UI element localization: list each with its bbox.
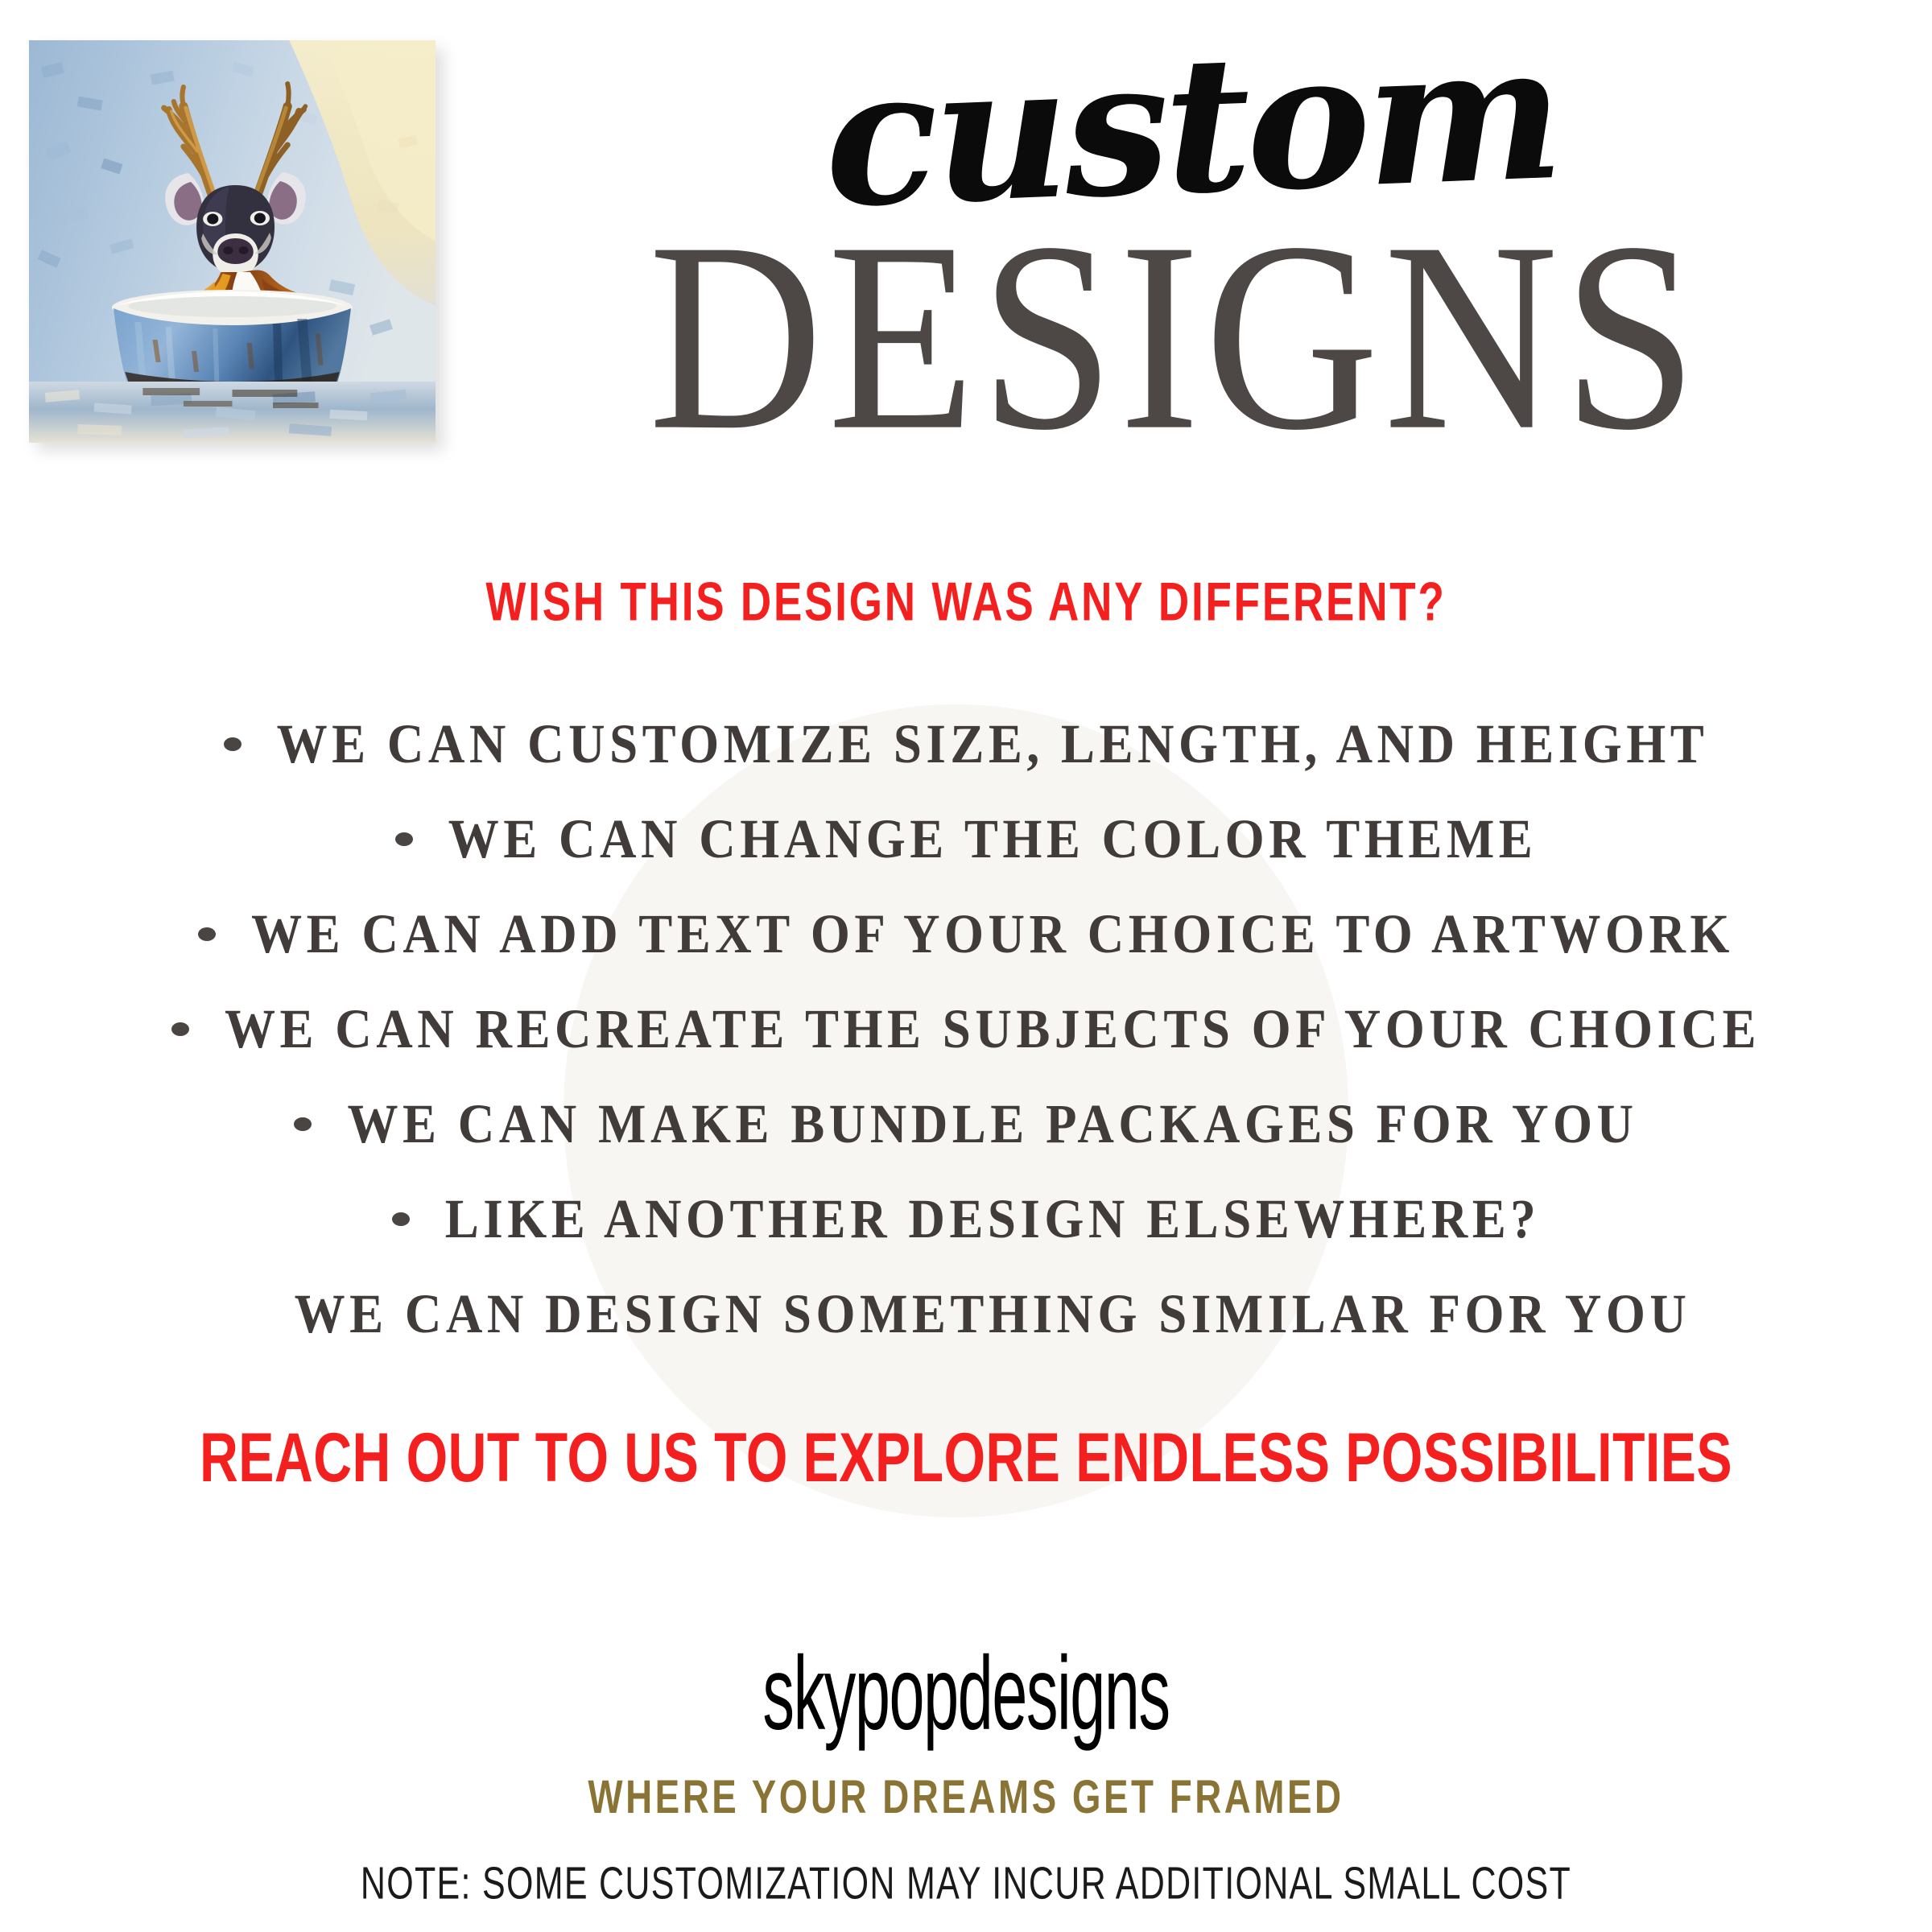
- list-item: LIKE ANOTHER DESIGN ELSEWHERE?: [0, 1171, 1932, 1266]
- cta-text: REACH OUT TO US TO EXPLORE ENDLESS POSSI…: [77, 1418, 1855, 1497]
- bullet-dot-icon: [392, 1212, 410, 1226]
- benefit-label: WE CAN MAKE BUNDLE PACKAGES FOR YOU: [347, 1092, 1637, 1156]
- benefit-label: WE CAN DESIGN SOMETHING SIMILAR FOR YOU: [295, 1282, 1691, 1346]
- bullet-dot-icon: [395, 832, 413, 846]
- list-item: WE CAN RECREATE THE SUBJECTS OF YOUR CHO…: [0, 981, 1932, 1076]
- bullet-dot-icon: [198, 927, 216, 941]
- bullet-dot-icon: [294, 1117, 312, 1131]
- title-designs-serif: DESIGNS: [451, 220, 1900, 452]
- footer-note: NOTE: SOME CUSTOMIZATION MAY INCUR ADDIT…: [135, 1856, 1797, 1909]
- artwork-thumbnail: [29, 40, 436, 443]
- list-item-continuation: WE CAN DESIGN SOMETHING SIMILAR FOR YOU: [0, 1266, 1932, 1361]
- subtitle-question: WISH THIS DESIGN WAS ANY DIFFERENT?: [68, 571, 1864, 634]
- brand-tagline: WHERE YOUR DREAMS GET FRAMED: [116, 1770, 1816, 1824]
- list-item: WE CAN CHANGE THE COLOR THEME: [0, 791, 1932, 886]
- list-item: WE CAN MAKE BUNDLE PACKAGES FOR YOU: [0, 1076, 1932, 1171]
- benefit-label: WE CAN RECREATE THE SUBJECTS OF YOUR CHO…: [225, 997, 1761, 1061]
- benefit-label: WE CAN ADD TEXT OF YOUR CHOICE TO ARTWOR…: [251, 902, 1734, 966]
- benefit-label: WE CAN CHANGE THE COLOR THEME: [448, 807, 1538, 871]
- benefit-label: WE CAN CUSTOMIZE SIZE, LENGTH, AND HEIGH…: [277, 712, 1709, 776]
- list-item: WE CAN CUSTOMIZE SIZE, LENGTH, AND HEIGH…: [0, 696, 1932, 791]
- deer-in-bathtub-painting-icon: [29, 40, 436, 443]
- benefits-list: WE CAN CUSTOMIZE SIZE, LENGTH, AND HEIGH…: [0, 696, 1932, 1361]
- bullet-dot-icon: [171, 1022, 189, 1036]
- benefit-label: LIKE ANOTHER DESIGN ELSEWHERE?: [445, 1187, 1541, 1251]
- headline-block: custom DESIGNS: [451, 48, 1900, 427]
- bullet-dot-icon: [224, 737, 242, 751]
- brand-name: skypopdesigns: [270, 1633, 1662, 1754]
- list-item: WE CAN ADD TEXT OF YOUR CHOICE TO ARTWOR…: [0, 886, 1932, 981]
